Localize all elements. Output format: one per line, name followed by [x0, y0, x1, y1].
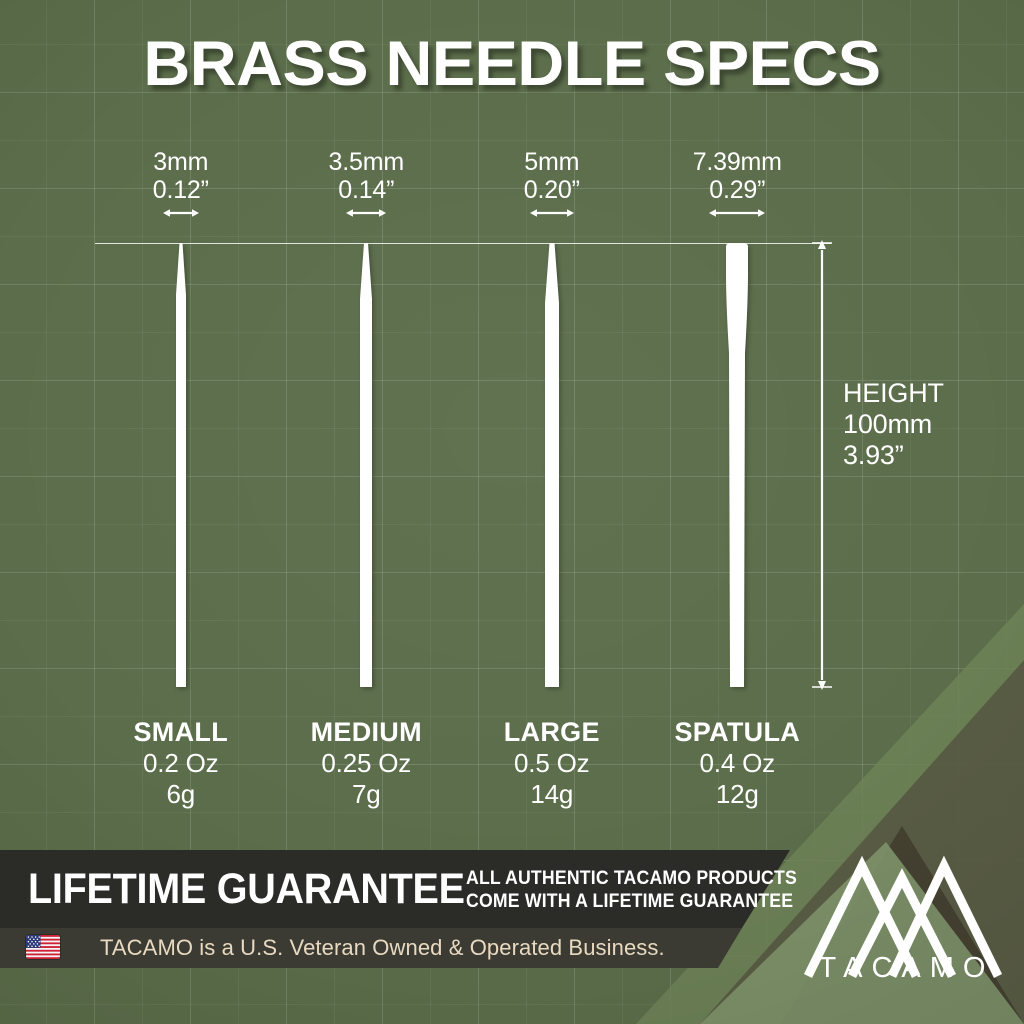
dim-mm-spatula: 7.39mm	[645, 148, 831, 176]
width-arrow-medium	[274, 207, 460, 221]
guarantee-subtext: ALL AUTHENTIC TACAMO PRODUCTS COME WITH …	[466, 867, 797, 913]
dim-mm-medium: 3.5mm	[274, 148, 460, 176]
product-label-row: SMALL 0.2 Oz 6g MEDIUM 0.25 Oz 7g LARGE …	[88, 716, 830, 810]
product-g-spatula: 12g	[645, 779, 831, 810]
guarantee-title: LIFETIME GUARANTEE	[28, 864, 465, 914]
guarantee-subtext-line1: ALL AUTHENTIC TACAMO PRODUCTS	[466, 867, 797, 890]
product-g-medium: 7g	[274, 779, 460, 810]
width-arrow-spatula	[645, 207, 831, 221]
product-g-small: 6g	[88, 779, 274, 810]
product-oz-small: 0.2 Oz	[88, 748, 274, 779]
veteran-owned-text: TACAMO is a U.S. Veteran Owned & Operate…	[100, 935, 665, 961]
dim-in-large: 0.20”	[459, 176, 645, 204]
needle-illustration-row	[88, 243, 830, 687]
dimension-col-large: 5mm 0.20”	[459, 148, 645, 221]
product-oz-spatula: 0.4 Oz	[645, 748, 831, 779]
product-name-small: SMALL	[88, 716, 274, 748]
dimension-col-small: 3mm 0.12”	[88, 148, 274, 221]
product-name-spatula: SPATULA	[645, 716, 831, 748]
dim-in-medium: 0.14”	[274, 176, 460, 204]
height-mm: 100mm	[843, 409, 944, 440]
needle-medium	[274, 243, 460, 687]
dimension-col-medium: 3.5mm 0.14”	[274, 148, 460, 221]
dimension-col-spatula: 7.39mm 0.29”	[645, 148, 831, 221]
dim-in-spatula: 0.29”	[645, 176, 831, 204]
width-arrow-small	[88, 207, 274, 221]
height-inches: 3.93”	[843, 440, 944, 471]
product-label-spatula: SPATULA 0.4 Oz 12g	[645, 716, 831, 810]
needle-spatula	[645, 243, 831, 687]
guarantee-subtext-line2: COME WITH A LIFETIME GUARANTEE	[466, 890, 797, 913]
product-name-large: LARGE	[459, 716, 645, 748]
needle-small	[88, 243, 274, 687]
product-oz-medium: 0.25 Oz	[274, 748, 460, 779]
width-arrow-large	[459, 207, 645, 221]
dim-mm-large: 5mm	[459, 148, 645, 176]
product-label-large: LARGE 0.5 Oz 14g	[459, 716, 645, 810]
dim-mm-small: 3mm	[88, 148, 274, 176]
product-g-large: 14g	[459, 779, 645, 810]
us-flag-icon	[26, 935, 60, 959]
height-spec-text: HEIGHT 100mm 3.93”	[843, 378, 944, 471]
dim-in-small: 0.12”	[88, 176, 274, 204]
infographic-page: BRASS NEEDLE SPECS 3mm 0.12” 3.5mm 0.14”	[0, 0, 1024, 1024]
product-label-medium: MEDIUM 0.25 Oz 7g	[274, 716, 460, 810]
product-label-small: SMALL 0.2 Oz 6g	[88, 716, 274, 810]
height-label: HEIGHT	[843, 378, 944, 409]
brand-wordmark: TACAMO	[786, 952, 1018, 985]
page-title: BRASS NEEDLE SPECS	[0, 28, 1024, 100]
needle-large	[459, 243, 645, 687]
product-name-medium: MEDIUM	[274, 716, 460, 748]
product-oz-large: 0.5 Oz	[459, 748, 645, 779]
dimension-label-row: 3mm 0.12” 3.5mm 0.14” 5mm	[88, 148, 830, 221]
height-dimension-arrow	[812, 240, 832, 690]
